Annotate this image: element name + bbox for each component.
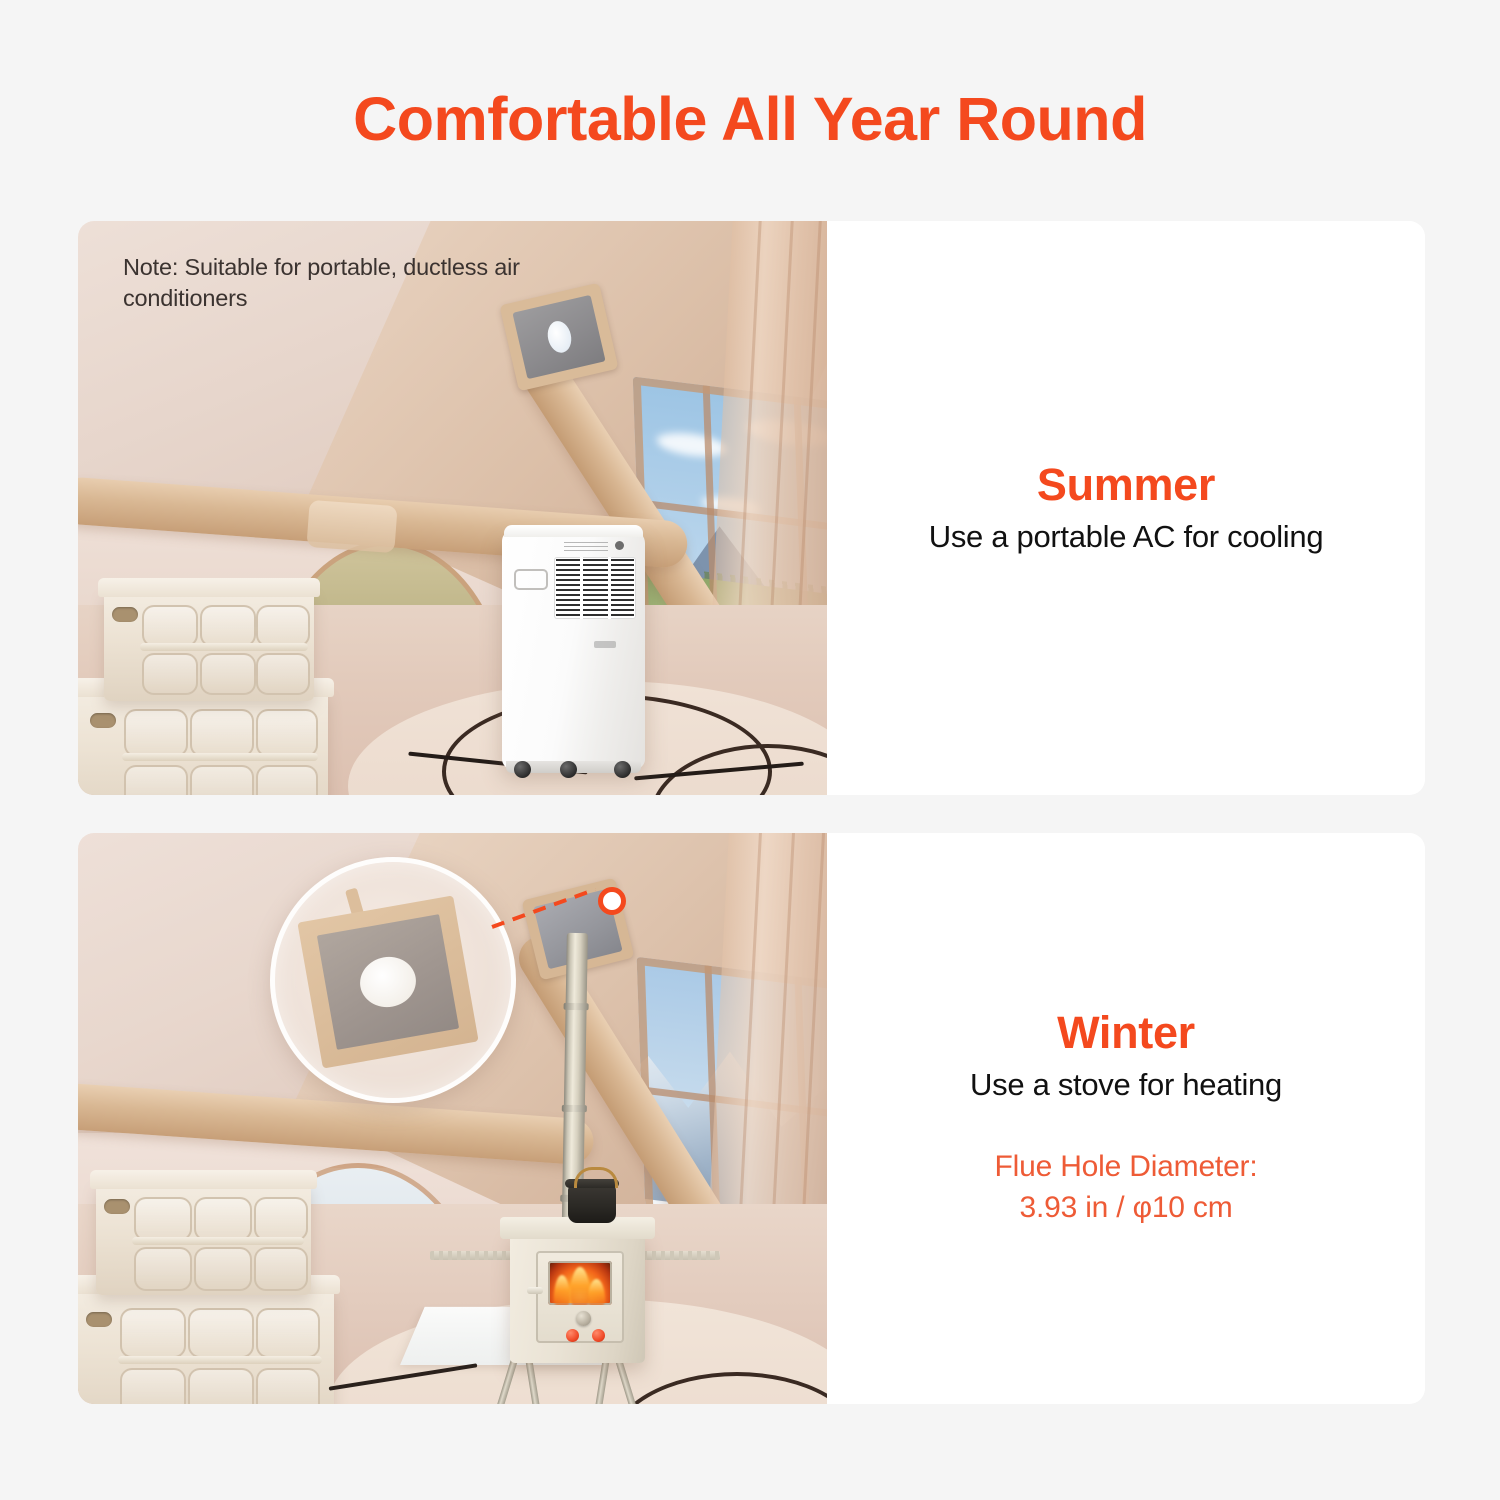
flame-icon <box>570 1267 590 1305</box>
ac-grille-divider <box>608 557 611 619</box>
ac-grille-divider <box>580 557 583 619</box>
season-subtitle-winter: Use a stove for heating <box>970 1066 1282 1103</box>
crate-panel <box>256 1368 320 1404</box>
crate-panel <box>254 1197 308 1241</box>
card-summer: Note: Suitable for portable, ductless ai… <box>78 221 1425 795</box>
crate-panel <box>254 1247 308 1291</box>
ac-top-panel <box>504 525 643 537</box>
crate-panel <box>134 1197 192 1241</box>
flue-spec-label: Flue Hole Diameter: <box>995 1147 1258 1188</box>
wood-stove-icon <box>510 1233 645 1363</box>
stove-air-control-knob <box>576 1311 591 1326</box>
flue-pipe-joint <box>562 1105 587 1112</box>
flame-icon <box>554 1275 570 1305</box>
crate-panel <box>256 765 318 795</box>
season-subtitle-summer: Use a portable AC for cooling <box>929 518 1324 555</box>
portable-air-conditioner-icon <box>502 531 645 769</box>
crate-panel <box>124 709 188 757</box>
stove-kettle <box>568 1185 616 1223</box>
summer-photo: Note: Suitable for portable, ductless ai… <box>78 221 827 795</box>
stove-red-knob <box>566 1329 579 1342</box>
ac-caster <box>514 761 531 778</box>
magnifier-callout-icon <box>270 857 516 1103</box>
crate-handle <box>104 1199 130 1214</box>
ac-vent-grille <box>554 557 636 619</box>
crate-panel <box>256 709 318 757</box>
storage-crate-bottom <box>78 1288 334 1404</box>
crate-panel <box>120 1368 186 1404</box>
crate-panel <box>194 1197 252 1241</box>
summer-note-text: Note: Suitable for portable, ductless ai… <box>123 252 543 315</box>
winter-photo <box>78 833 827 1404</box>
summer-tent-scene: Note: Suitable for portable, ductless ai… <box>78 221 827 795</box>
card-winter: Winter Use a stove for heating Flue Hole… <box>78 833 1425 1404</box>
crate-panel <box>142 605 198 647</box>
crate-panel <box>200 653 256 695</box>
storage-crate-bottom <box>78 691 328 795</box>
crate-panel <box>134 1247 192 1291</box>
rug-pattern-line <box>609 1372 827 1404</box>
stove-door-latch <box>527 1287 543 1294</box>
crate-panel <box>188 1368 254 1404</box>
season-title-winter: Winter <box>1057 1009 1195 1056</box>
crate-panel <box>256 605 310 647</box>
ac-caster <box>560 761 577 778</box>
crate-panel <box>256 653 310 695</box>
winter-tent-scene <box>78 833 827 1404</box>
season-title-summer: Summer <box>1037 461 1215 508</box>
ac-power-indicator <box>615 541 624 550</box>
flue-spec-value: 3.93 in / φ10 cm <box>995 1188 1258 1229</box>
storage-crate-top <box>104 591 314 701</box>
crate-strap <box>118 1356 322 1364</box>
callout-flue-patch <box>297 895 478 1068</box>
crate-strap <box>140 643 308 651</box>
stove-door <box>536 1251 624 1343</box>
crate-panel <box>142 653 198 695</box>
crate-panel <box>188 1308 254 1358</box>
crate-strap <box>122 753 318 761</box>
crate-handle <box>112 607 138 622</box>
stove-glass-window <box>548 1261 612 1305</box>
crate-lid <box>90 1170 317 1189</box>
stove-red-knob <box>592 1329 605 1342</box>
page-title: Comfortable All Year Round <box>0 84 1500 154</box>
kettle-handle <box>574 1167 618 1188</box>
stove-side-tray-left <box>430 1251 522 1260</box>
crate-panel <box>190 709 254 757</box>
ac-control-label <box>564 542 608 551</box>
flue-spec-block: Flue Hole Diameter: 3.93 in / φ10 cm <box>995 1147 1258 1228</box>
crate-panel <box>200 605 256 647</box>
crate-panel <box>194 1247 252 1291</box>
crate-panel <box>256 1308 320 1358</box>
summer-text-panel: Summer Use a portable AC for cooling <box>827 221 1425 795</box>
crate-handle <box>86 1312 112 1327</box>
crate-panel <box>190 765 254 795</box>
crate-lid <box>98 578 320 597</box>
storage-crate-top <box>96 1183 311 1295</box>
ac-caster <box>614 761 631 778</box>
winter-text-panel: Winter Use a stove for heating Flue Hole… <box>827 833 1425 1404</box>
crate-panel <box>120 1308 186 1358</box>
flue-pipe-joint <box>564 1003 589 1010</box>
crate-strap <box>132 1237 304 1245</box>
pointer-dot-marker <box>598 887 626 915</box>
crate-handle <box>90 713 116 728</box>
tent-beam-seam <box>306 500 397 553</box>
crate-panel <box>124 765 188 795</box>
ac-brand-mark <box>594 641 616 648</box>
ac-grille-slats <box>556 559 634 617</box>
stove-side-tray-right <box>634 1251 720 1260</box>
flame-icon <box>588 1279 605 1305</box>
ac-side-handle <box>514 569 548 590</box>
